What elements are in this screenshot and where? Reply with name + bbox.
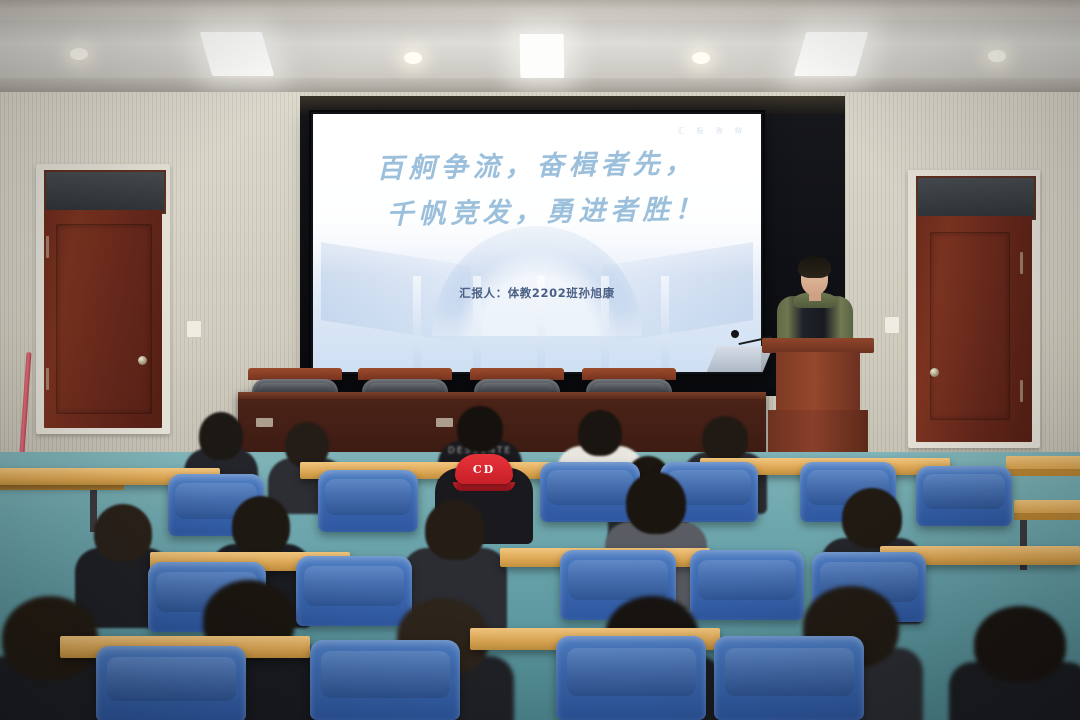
downlight-1 [70,48,88,60]
attendee-front-6-head [974,606,1066,682]
seat-front-4[interactable] [714,636,864,720]
downlight-4 [988,50,1006,62]
slide-title: 百舸争流，奋楫者先， 千帆竞发，勇进者胜！ [313,140,761,240]
door-slab-left [44,210,162,428]
slide-presenter-line: 汇报人：体教2202班孙旭康 [313,285,761,301]
door-hinge-right-top [1020,252,1023,274]
door-hinge-left-top [46,236,49,258]
slide-title-line-1: 百舸争流，奋楫者先， [376,148,696,185]
attendee-mid-6-head [842,488,902,548]
attendee-front-6 [960,606,1080,720]
door-hinge-left-bottom [46,368,49,390]
door-transom-left [44,170,166,214]
projection-screen: 汇 报 答 辩 百舸争流，奋楫者先， 千帆竞发，勇进者胜！ 汇报人：体教2202… [311,112,763,374]
door-panel-right [930,232,1010,420]
speaker-person [775,252,855,344]
door-knob-left[interactable] [138,356,147,365]
cap-logo-text: CD [455,463,513,476]
light-switch-right[interactable] [884,316,900,334]
lecture-hall-photo: 汇 报 答 辩 百舸争流，奋楫者先， 千帆竞发，勇进者胜！ 汇报人：体教2202… [0,0,1080,720]
panel-light-left [200,32,275,76]
downlight-2 [404,52,422,64]
podium-top [762,338,874,353]
seat-front-3[interactable] [556,636,706,720]
slide-title-line-2: 千帆竞发，勇进者胜！ [331,186,761,239]
ceiling [0,0,1080,96]
panel-light-center [520,34,565,78]
attendee-mid-5-head [626,472,686,534]
speaker-hair [798,256,831,278]
presentation-slide: 汇 报 答 辩 百舸争流，奋楫者先， 千帆竞发，勇进者胜！ 汇报人：体教2202… [313,114,761,372]
door-left[interactable] [36,164,170,434]
slide-watermark: 汇 报 答 辩 [677,126,747,136]
seat-front-2[interactable] [310,640,460,720]
attendee-mid-4-head [425,500,485,560]
downlight-3 [692,52,710,64]
light-switch-left[interactable] [186,320,202,338]
attendee-front-1 [0,596,110,720]
attendee-mid-1-head [94,504,152,562]
microphone-icon [731,330,739,338]
door-knob-right[interactable] [930,368,939,377]
door-panel-left [56,224,152,414]
attendee-cap: CD [455,454,513,484]
attendee-mid-2-head [232,496,290,556]
door-transom-right [916,176,1036,220]
seat-front-1[interactable] [96,646,246,720]
panel-light-right [794,32,869,76]
